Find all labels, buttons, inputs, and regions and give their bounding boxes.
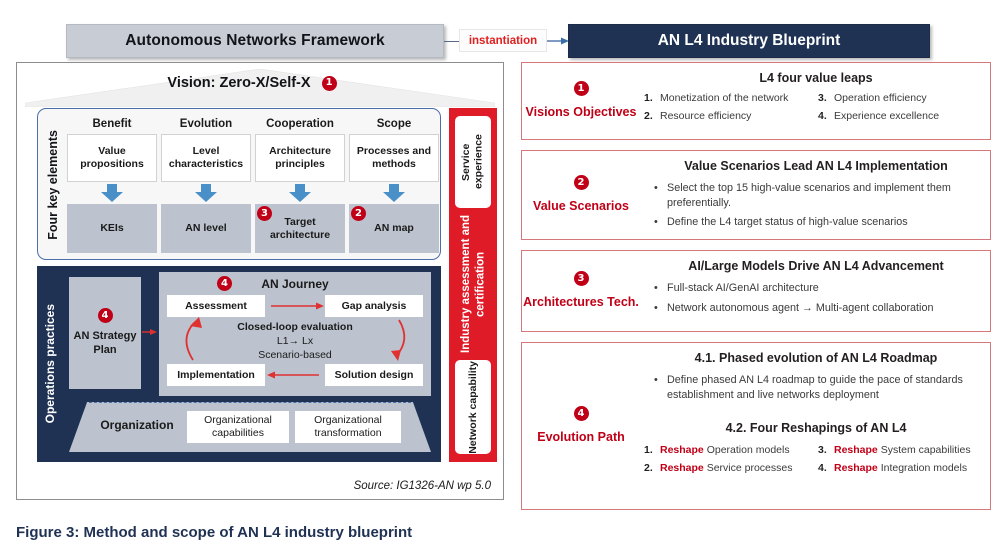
instantiation-arrow-icon [547,37,569,45]
card-3-left: 3 Architectures Tech. [522,251,640,331]
fke-arrow-cooperation [255,182,345,204]
service-experience-cell: Service experience [455,116,491,208]
bullet-icon: • [654,181,667,210]
journey-gap-analysis: Gap analysis [325,295,423,317]
list-item: • Select the top 15 high-value scenarios… [654,181,992,210]
industry-assessment-label: Industry assessment and certification [449,212,497,356]
framework-banner: Autonomous Networks Framework [66,24,444,58]
card-4-title-roadmap: 4.1. Phased evolution of AN L4 Roadmap [640,343,992,365]
card-3-bullets: • Full-stack AI/GenAI architecture • Net… [640,281,992,315]
list-item: • Define phased AN L4 roadmap to guide t… [654,373,992,402]
down-arrow-icon [101,184,123,202]
card-1-badge: 1 [574,81,589,96]
vision-badge: 1 [322,76,337,91]
card-4-left: 4 Evolution Path [522,343,640,509]
organizational-transformation: Organizational transformation [295,411,401,443]
an-map-badge: 2 [351,206,366,221]
item-number: 4. [818,462,834,476]
item-text: Full-stack AI/GenAI architecture [667,281,819,296]
fke-white-cooperation: Architecture principles [255,134,345,182]
fke-gray-benefit: KEIs [67,204,157,253]
card-1-body: L4 four value leaps 1. Monetization of t… [640,63,992,139]
fke-column-scope: Scope Processes and methods 2 AN map [349,113,439,257]
list-item: 3. Operation efficiency [818,92,992,106]
fke-head-scope: Scope [349,113,439,134]
card-2-badge: 2 [574,175,589,190]
bullet-icon: • [654,281,667,296]
list-item: 2. Reshape Service processes [644,462,818,476]
item-text: System capabilities [881,444,971,456]
framework-panel: Vision: Zero-X/Self-X 1 Four key element… [16,62,504,500]
fke-gray-benefit-text: KEIs [100,222,123,235]
fke-column-cooperation: Cooperation Architecture principles 3 Ta… [255,113,345,257]
fke-head-benefit: Benefit [67,113,157,134]
item-text: Operation models [707,444,790,456]
organizational-capabilities: Organizational capabilities [187,411,289,443]
strategy-plan-label: AN Strategy Plan [69,330,141,358]
fke-arrow-benefit [67,182,157,204]
blueprint-banner: AN L4 Industry Blueprint [568,24,930,58]
card-2-bullets: • Select the top 15 high-value scenarios… [640,181,992,230]
four-key-elements-columns: Benefit Value propositions KEIs Evolutio… [67,113,439,257]
card-1-items: 1. Monetization of the network 2. Resour… [640,92,992,127]
item-text: Service processes [707,462,793,474]
blueprint-card-value-scenarios: 2 Value Scenarios Value Scenarios Lead A… [521,150,991,240]
item-number: 1. [644,444,660,458]
card-3-badge: 3 [574,271,589,286]
down-arrow-icon [195,184,217,202]
fke-gray-scope-text: AN map [374,222,414,235]
blueprint-card-visions: 1 Visions Objectives L4 four value leaps… [521,62,991,140]
list-item: 4. Reshape Integration models [818,462,992,476]
organization-label: Organization [91,418,183,432]
fke-arrow-scope [349,182,439,204]
card-3-title: AI/Large Models Drive AN L4 Advancement [640,251,992,273]
item-text: Resource efficiency [660,110,751,124]
list-item: 4. Experience excellence [818,110,992,124]
item-text: Define phased AN L4 roadmap to guide the… [667,373,992,402]
fke-gray-evolution-text: AN level [185,222,226,235]
blueprint-banner-title: AN L4 Industry Blueprint [658,32,841,50]
blueprint-card-architectures: 3 Architectures Tech. AI/Large Models Dr… [521,250,991,332]
item-number: 1. [644,92,660,106]
figure-root: Autonomous Networks Framework instantiat… [0,0,1000,559]
card-2-label: Value Scenarios [533,198,629,214]
strategy-to-journey-arrow-icon [142,328,157,336]
card-2-left: 2 Value Scenarios [522,151,640,239]
item-number: 3. [818,444,834,458]
organization-row: Organization Organizational capabilities… [69,402,431,452]
card-4-reshape-right: 3. Reshape System capabilities 4. Reshap… [818,444,992,479]
vision-text: Vision: Zero-X/Self-X [167,75,310,91]
card-3-label: Architectures Tech. [523,294,639,310]
item-number: 2. [644,110,660,124]
instantiation-label-box: instantiation [459,29,547,52]
card-4-label: Evolution Path [537,429,625,445]
item-number: 2. [644,462,660,476]
vision-label: Vision: Zero-X/Self-X 1 [17,75,487,91]
fke-head-cooperation: Cooperation [255,113,345,134]
item-number: 4. [818,110,834,124]
reshape-keyword: Reshape [834,444,878,456]
bullet-icon: • [654,373,667,402]
list-item: • Full-stack AI/GenAI architecture [654,281,992,296]
framework-banner-title: Autonomous Networks Framework [125,32,385,50]
fke-gray-cooperation-text: Target architecture [258,216,342,241]
card-1-left: 1 Visions Objectives [522,63,640,139]
item-number: 3. [818,92,834,106]
industry-assessment-bar: Service experience Industry assessment a… [449,108,497,462]
four-key-elements-box: Four key elements Benefit Value proposit… [37,108,441,260]
list-item: 3. Reshape System capabilities [818,444,992,458]
journey-scenario-label: Scenario-based [215,349,375,361]
card-3-body: AI/Large Models Drive AN L4 Advancement … [640,251,992,331]
item-text: Operation efficiency [834,92,927,106]
card-4-badge: 4 [574,406,589,421]
journey-solution-design: Solution design [325,364,423,386]
fke-column-evolution: Evolution Level characteristics AN level [161,113,251,257]
bullet-icon: • [654,215,667,230]
item-text: Monetization of the network [660,92,788,106]
item-text: Select the top 15 high-value scenarios a… [667,181,992,210]
target-architecture-badge: 3 [257,206,272,221]
item-text: Experience excellence [834,110,939,124]
card-4-title-reshapings: 4.2. Four Reshapings of AN L4 [640,407,992,435]
an-strategy-plan-box: 4 AN Strategy Plan [69,277,141,389]
item-text: Integration models [881,462,967,474]
reshape-keyword: Reshape [660,444,704,456]
card-1-items-right: 3. Operation efficiency 4. Experience ex… [818,92,992,127]
card-1-items-left: 1. Monetization of the network 2. Resour… [644,92,818,127]
operations-practices-side-label: Operations practices [38,266,62,462]
card-2-title: Value Scenarios Lead AN L4 Implementatio… [640,151,992,173]
down-arrow-icon [289,184,311,202]
card-4-bullets: • Define phased AN L4 roadmap to guide t… [640,373,992,402]
list-item: • Define the L4 target status of high-va… [654,215,992,230]
list-item: 1. Reshape Operation models [644,444,818,458]
list-item: • Network autonomous agent → Multi-agent… [654,301,992,316]
operations-practices-box: Operations practices 4 AN Strategy Plan … [37,266,441,462]
figure-caption: Figure 3: Method and scope of AN L4 indu… [16,524,412,541]
card-4-reshape-items: 1. Reshape Operation models 2. Reshape S… [640,444,992,479]
fke-white-scope: Processes and methods [349,134,439,182]
fke-white-evolution: Level characteristics [161,134,251,182]
strategy-plan-badge: 4 [98,308,113,323]
down-arrow-icon [383,184,405,202]
list-item: 1. Monetization of the network [644,92,818,106]
blueprint-card-evolution-path: 4 Evolution Path 4.1. Phased evolution o… [521,342,991,510]
fke-white-benefit: Value propositions [67,134,157,182]
card-1-label: Visions Objectives [526,104,637,120]
fke-gray-cooperation: 3 Target architecture [255,204,345,253]
fke-column-benefit: Benefit Value propositions KEIs [67,113,157,257]
source-note: Source: IG1326-AN wp 5.0 [354,480,491,492]
network-capability-cell: Network capability [455,360,491,454]
card-4-reshape-left: 1. Reshape Operation models 2. Reshape S… [644,444,818,479]
card-1-title: L4 four value leaps [640,63,992,85]
journey-closed-loop-label: Closed-loop evaluation [215,321,375,333]
fke-arrow-evolution [161,182,251,204]
four-key-elements-side-label: Four key elements [40,109,66,261]
fke-gray-evolution: AN level [161,204,251,253]
item-text: Define the L4 target status of high-valu… [667,215,908,230]
fke-gray-scope: 2 AN map [349,204,439,253]
an-journey-box: 4 AN Journey Assessment Gap analysis Imp… [159,272,431,396]
reshape-keyword: Reshape [834,462,878,474]
instantiation-label: instantiation [469,35,537,47]
fke-head-evolution: Evolution [161,113,251,134]
journey-assessment: Assessment [167,295,265,317]
reshape-keyword: Reshape [660,462,704,474]
blueprint-panel: 1 Visions Objectives L4 four value leaps… [521,62,991,510]
card-4-body: 4.1. Phased evolution of AN L4 Roadmap •… [640,343,992,509]
list-item: 2. Resource efficiency [644,110,818,124]
bullet-icon: • [654,301,667,316]
item-text: Network autonomous agent → Multi-agent c… [667,301,933,316]
journey-implementation: Implementation [167,364,265,386]
card-2-body: Value Scenarios Lead AN L4 Implementatio… [640,151,992,239]
journey-levels-label: L1→ Lx [215,335,375,347]
